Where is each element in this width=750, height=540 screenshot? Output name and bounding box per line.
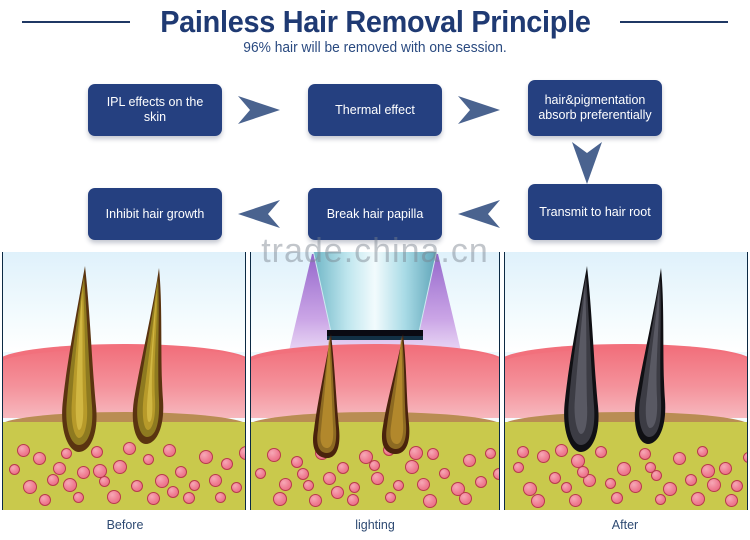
process-flow-diagram: IPL effects on the skin Thermal effect h… (0, 66, 750, 246)
title-rule-right (620, 21, 728, 23)
fat-cell (309, 494, 322, 507)
fat-cell (9, 464, 20, 475)
hair-follicle-black-1 (557, 266, 607, 458)
fat-cell (459, 492, 472, 505)
fat-cell (39, 494, 51, 506)
fat-cell (463, 454, 476, 467)
fat-cell (73, 492, 84, 503)
fat-cell (155, 474, 169, 488)
fat-cell (369, 460, 380, 471)
fat-cell (531, 494, 545, 508)
fat-cell (493, 468, 500, 480)
fat-cell (731, 480, 743, 492)
title-row: Painless Hair Removal Principle (0, 4, 750, 40)
hair-follicle-black-2 (627, 268, 675, 452)
panel-before (0, 252, 248, 510)
fat-cell (279, 478, 292, 491)
hair-follicle-golden-2 (125, 268, 173, 452)
flow-arrow-left-2 (236, 198, 282, 230)
page-title: Painless Hair Removal Principle (160, 4, 590, 40)
fat-cell (513, 462, 524, 473)
fat-cell (719, 462, 732, 475)
flow-node-absorb-preferentially: hair&pigmentation absorb preferentially (528, 80, 662, 136)
fat-cell (673, 452, 686, 465)
dermis-layer (2, 348, 246, 418)
skin-surface-layer (3, 252, 245, 352)
flow-node-label: Transmit to hair root (539, 205, 650, 220)
fat-cell (707, 478, 721, 492)
fat-cell (725, 494, 738, 507)
fat-cell (405, 460, 419, 474)
flow-node-label: Inhibit hair growth (106, 207, 205, 222)
fat-cell (147, 492, 160, 505)
flow-node-label: Thermal effect (335, 103, 415, 118)
fat-cell (549, 472, 561, 484)
fat-cell (685, 474, 697, 486)
fat-cell (331, 486, 344, 499)
fat-cell (537, 450, 550, 463)
fat-cell (131, 480, 143, 492)
fat-cell (691, 492, 705, 506)
fat-cell (209, 474, 222, 487)
fat-cell (743, 452, 748, 463)
fat-cell (113, 460, 127, 474)
fat-cell (427, 448, 439, 460)
panel-captions: Before lighting After (0, 510, 750, 540)
panel-after (502, 252, 750, 510)
fat-cell (697, 446, 708, 457)
dermis-layer (504, 348, 748, 418)
fat-cell (267, 448, 281, 462)
caption-after: After (500, 510, 750, 540)
fat-cell (645, 462, 656, 473)
fat-cell-cluster (3, 434, 245, 510)
flow-arrow-right-2 (456, 94, 502, 126)
fat-cell (143, 454, 154, 465)
fat-cell (33, 452, 46, 465)
fat-cell (239, 446, 246, 460)
illustration-panels (0, 252, 750, 510)
fat-cell (273, 492, 287, 506)
fat-cell (617, 462, 631, 476)
hair-follicle-irradiated-2 (375, 334, 421, 456)
fat-cell (349, 482, 360, 493)
flow-node-ipl-effects: IPL effects on the skin (88, 84, 222, 136)
fat-cell (417, 478, 430, 491)
fat-cell-cluster (505, 434, 747, 510)
fat-cell (199, 450, 213, 464)
fat-cell (701, 464, 715, 478)
hair-follicle-irradiated-1 (307, 334, 353, 460)
flow-node-break-hair-papilla: Break hair papilla (308, 188, 442, 240)
flow-node-label: hair&pigmentation absorb preferentially (534, 93, 656, 123)
fat-cell (107, 490, 121, 504)
fat-cell (291, 456, 303, 468)
fat-cell (347, 494, 359, 506)
fat-cell (393, 480, 404, 491)
fat-cell (221, 458, 233, 470)
title-rule-left (22, 21, 130, 23)
page-header: Painless Hair Removal Principle 96% hair… (0, 0, 750, 66)
flow-node-label: IPL effects on the skin (94, 95, 216, 125)
caption-lighting: lighting (250, 510, 500, 540)
fat-cell (183, 492, 195, 504)
flow-node-inhibit-hair-growth: Inhibit hair growth (88, 188, 222, 240)
fat-cell (663, 482, 677, 496)
fat-cell (569, 494, 582, 507)
caption-before: Before (0, 510, 250, 540)
fat-cell (231, 482, 242, 493)
fat-cell (189, 480, 200, 491)
fat-cell (475, 476, 487, 488)
page-subtitle: 96% hair will be removed with one sessio… (19, 40, 732, 56)
skin-surface-layer (505, 252, 747, 352)
flow-arrow-right-1 (236, 94, 282, 126)
fat-cell (47, 474, 59, 486)
panel-lighting-artwork (250, 252, 500, 510)
fat-cell (77, 466, 90, 479)
fat-cell (629, 480, 642, 493)
fat-cell (385, 492, 396, 503)
fat-cell (605, 478, 616, 489)
fat-cell (167, 486, 179, 498)
fat-cell (611, 492, 623, 504)
fat-cell (323, 472, 336, 485)
fat-cell (485, 448, 496, 459)
panel-before-artwork (2, 252, 246, 510)
fat-cell (517, 446, 529, 458)
fat-cell (17, 444, 30, 457)
fat-cell (53, 462, 66, 475)
fat-cell (577, 466, 589, 478)
fat-cell (561, 482, 572, 493)
flow-arrow-left-1 (456, 198, 502, 230)
fat-cell (23, 480, 37, 494)
fat-cell (63, 478, 77, 492)
fat-cell (175, 466, 187, 478)
fat-cell (655, 494, 666, 505)
panel-lighting (248, 252, 502, 510)
fat-cell (423, 494, 437, 508)
fat-cell (337, 462, 349, 474)
flow-node-label: Break hair papilla (327, 207, 424, 222)
fat-cell (303, 480, 314, 491)
fat-cell (439, 468, 450, 479)
hair-follicle-golden-1 (55, 266, 105, 458)
flow-node-transmit-to-hair-root: Transmit to hair root (528, 184, 662, 240)
fat-cell (215, 492, 226, 503)
fat-cell (255, 468, 266, 479)
flow-arrow-down (570, 140, 604, 186)
flow-node-thermal-effect: Thermal effect (308, 84, 442, 136)
fat-cell (371, 472, 384, 485)
fat-cell (297, 468, 309, 480)
panel-after-artwork (504, 252, 748, 510)
fat-cell (93, 464, 107, 478)
